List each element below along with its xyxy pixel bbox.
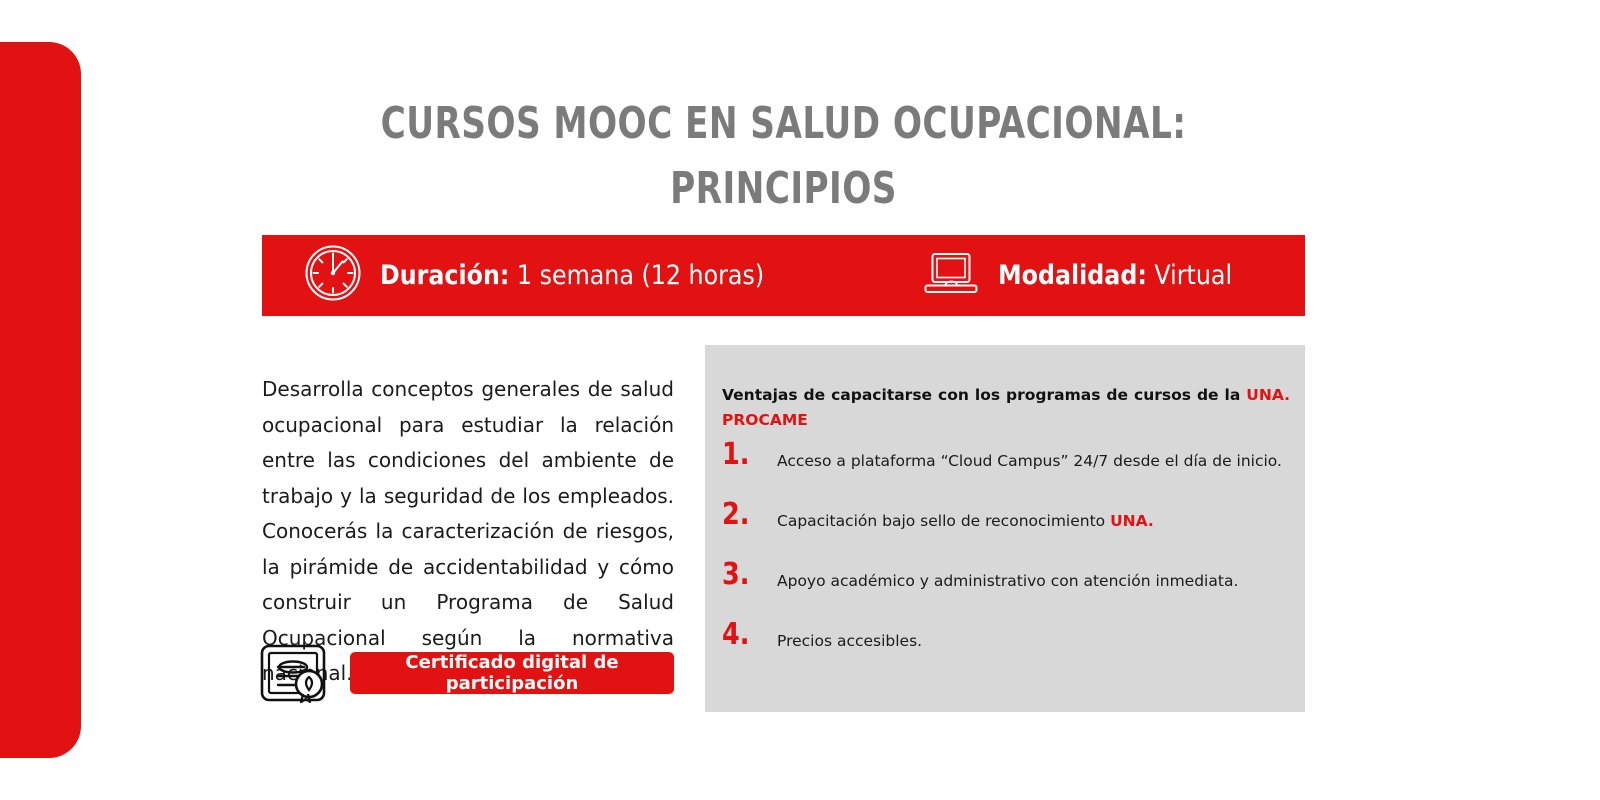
page-title: CURSOS MOOC EN SALUD OCUPACIONAL: PRINCI… bbox=[377, 91, 1191, 221]
list-item-label: Acceso a plataforma “Cloud Campus” 24/7 … bbox=[777, 446, 1292, 472]
list-item-number: 1. bbox=[722, 440, 756, 470]
banner-item-duration: Duración: 1 semana (12 horas) bbox=[304, 244, 816, 307]
banner-duration-text: Duración: 1 semana (12 horas) bbox=[380, 260, 764, 291]
list-item: 4. Precios accesibles. bbox=[722, 626, 1292, 686]
list-item-label: Precios accesibles. bbox=[777, 626, 1292, 652]
list-item-number: 4. bbox=[722, 620, 756, 650]
list-item-text: Apoyo académico y administrativo con ate… bbox=[777, 572, 1238, 590]
course-info-banner: Duración: 1 semana (12 horas) Modalidad:… bbox=[262, 235, 1305, 316]
page-content: CURSOS MOOC EN SALUD OCUPACIONAL: PRINCI… bbox=[0, 0, 1600, 800]
banner-item-modality: Modalidad: Virtual bbox=[924, 249, 1264, 302]
list-item-number: 3. bbox=[722, 560, 756, 590]
list-item-number: 2. bbox=[722, 500, 756, 530]
list-item-label: Capacitación bajo sello de reconocimient… bbox=[777, 506, 1292, 532]
list-item-text: Precios accesibles. bbox=[777, 632, 922, 650]
advantages-heading: Ventajas de capacitarse con los programa… bbox=[722, 383, 1290, 433]
list-item-label: Apoyo académico y administrativo con ate… bbox=[777, 566, 1292, 592]
clock-icon bbox=[304, 244, 362, 307]
banner-modality-value: Virtual bbox=[1155, 260, 1233, 291]
list-item: 1. Acceso a plataforma “Cloud Campus” 24… bbox=[722, 446, 1292, 506]
advantages-heading-prefix: Ventajas de capacitarse con los programa… bbox=[722, 386, 1246, 404]
banner-modality-text: Modalidad: Virtual bbox=[998, 260, 1232, 291]
certificate-icon bbox=[258, 643, 334, 703]
list-item: 3. Apoyo académico y administrativo con … bbox=[722, 566, 1292, 626]
banner-duration-label: Duración: bbox=[380, 260, 509, 291]
list-item-brand: UNA. bbox=[1110, 512, 1154, 530]
certificate-row: Certificado digital de participación bbox=[258, 643, 676, 703]
list-item-text: Acceso a plataforma “Cloud Campus” 24/7 … bbox=[777, 452, 1282, 470]
banner-duration-value: 1 semana (12 horas) bbox=[517, 260, 764, 291]
certificate-button[interactable]: Certificado digital de participación bbox=[350, 652, 674, 694]
advantages-list: 1. Acceso a plataforma “Cloud Campus” 24… bbox=[722, 446, 1292, 686]
list-item-text: Capacitación bajo sello de reconocimient… bbox=[777, 512, 1110, 530]
list-item: 2. Capacitación bajo sello de reconocimi… bbox=[722, 506, 1292, 566]
advantages-panel: Ventajas de capacitarse con los programa… bbox=[705, 345, 1305, 712]
laptop-icon bbox=[924, 249, 978, 302]
banner-modality-label: Modalidad: bbox=[998, 260, 1147, 291]
